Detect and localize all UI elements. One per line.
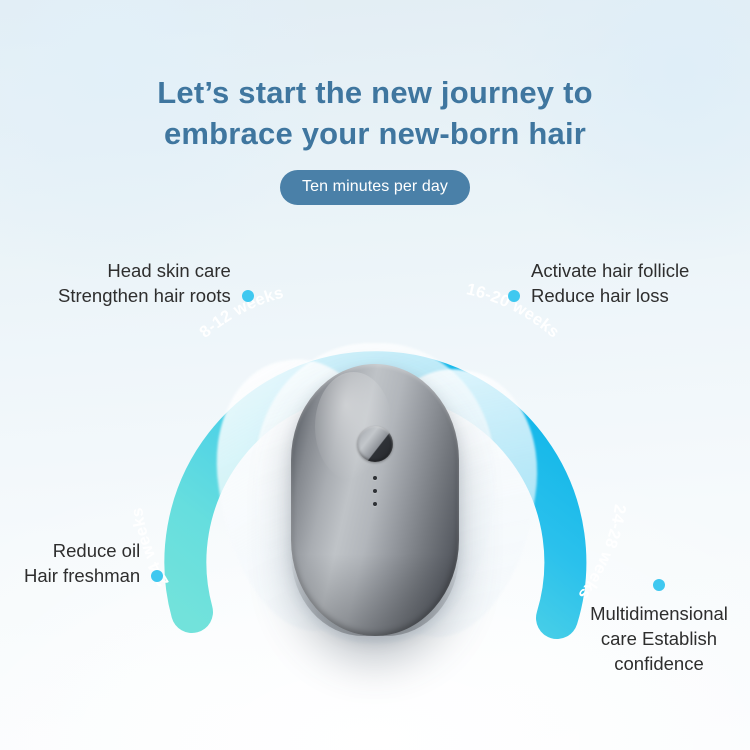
page-headline: Let’s start the new journey to embrace y… <box>0 72 750 154</box>
indicator-dot <box>373 502 377 506</box>
scalp-care-device <box>291 364 459 636</box>
device-illustration <box>215 335 535 665</box>
feature-line-3: confidence <box>584 651 734 676</box>
feature-line-1: Head skin care <box>107 258 230 283</box>
bullet-dot-icon <box>151 570 163 582</box>
indicator-dot <box>373 476 377 480</box>
bullet-spacer <box>508 265 520 277</box>
feature-line-1: Multidimensional <box>584 601 734 626</box>
headline-line-1: Let’s start the new journey to <box>0 72 750 113</box>
tagline-pill: Ten minutes per day <box>280 170 470 205</box>
power-button-icon <box>357 426 393 462</box>
feature-activate-hair-follicle: Activate hair follicle Reduce hair loss <box>508 258 689 308</box>
bullet-spacer <box>242 265 254 277</box>
bullet-dot-icon <box>653 579 665 591</box>
feature-multidimensional-care: Multidimensional care Establish confiden… <box>584 576 734 676</box>
poster-root: Let’s start the new journey to embrace y… <box>0 0 750 750</box>
feature-line-2: Reduce hair loss <box>531 283 669 308</box>
feature-line-1: Activate hair follicle <box>531 258 689 283</box>
bullet-dot-icon <box>508 290 520 302</box>
headline-line-2: embrace your new-born hair <box>0 113 750 154</box>
feature-line-2: Strengthen hair roots <box>58 283 231 308</box>
feature-line-1: Reduce oil <box>53 538 140 563</box>
feature-line-2: Hair freshman <box>24 563 140 588</box>
bullet-dot-icon <box>242 290 254 302</box>
bullet-spacer <box>151 545 163 557</box>
indicator-dots <box>373 476 377 506</box>
feature-line-2: care Establish <box>584 626 734 651</box>
feature-head-skin-care: Head skin care Strengthen hair roots <box>58 258 254 308</box>
indicator-dot <box>373 489 377 493</box>
feature-reduce-oil: Reduce oil Hair freshman <box>24 538 163 588</box>
